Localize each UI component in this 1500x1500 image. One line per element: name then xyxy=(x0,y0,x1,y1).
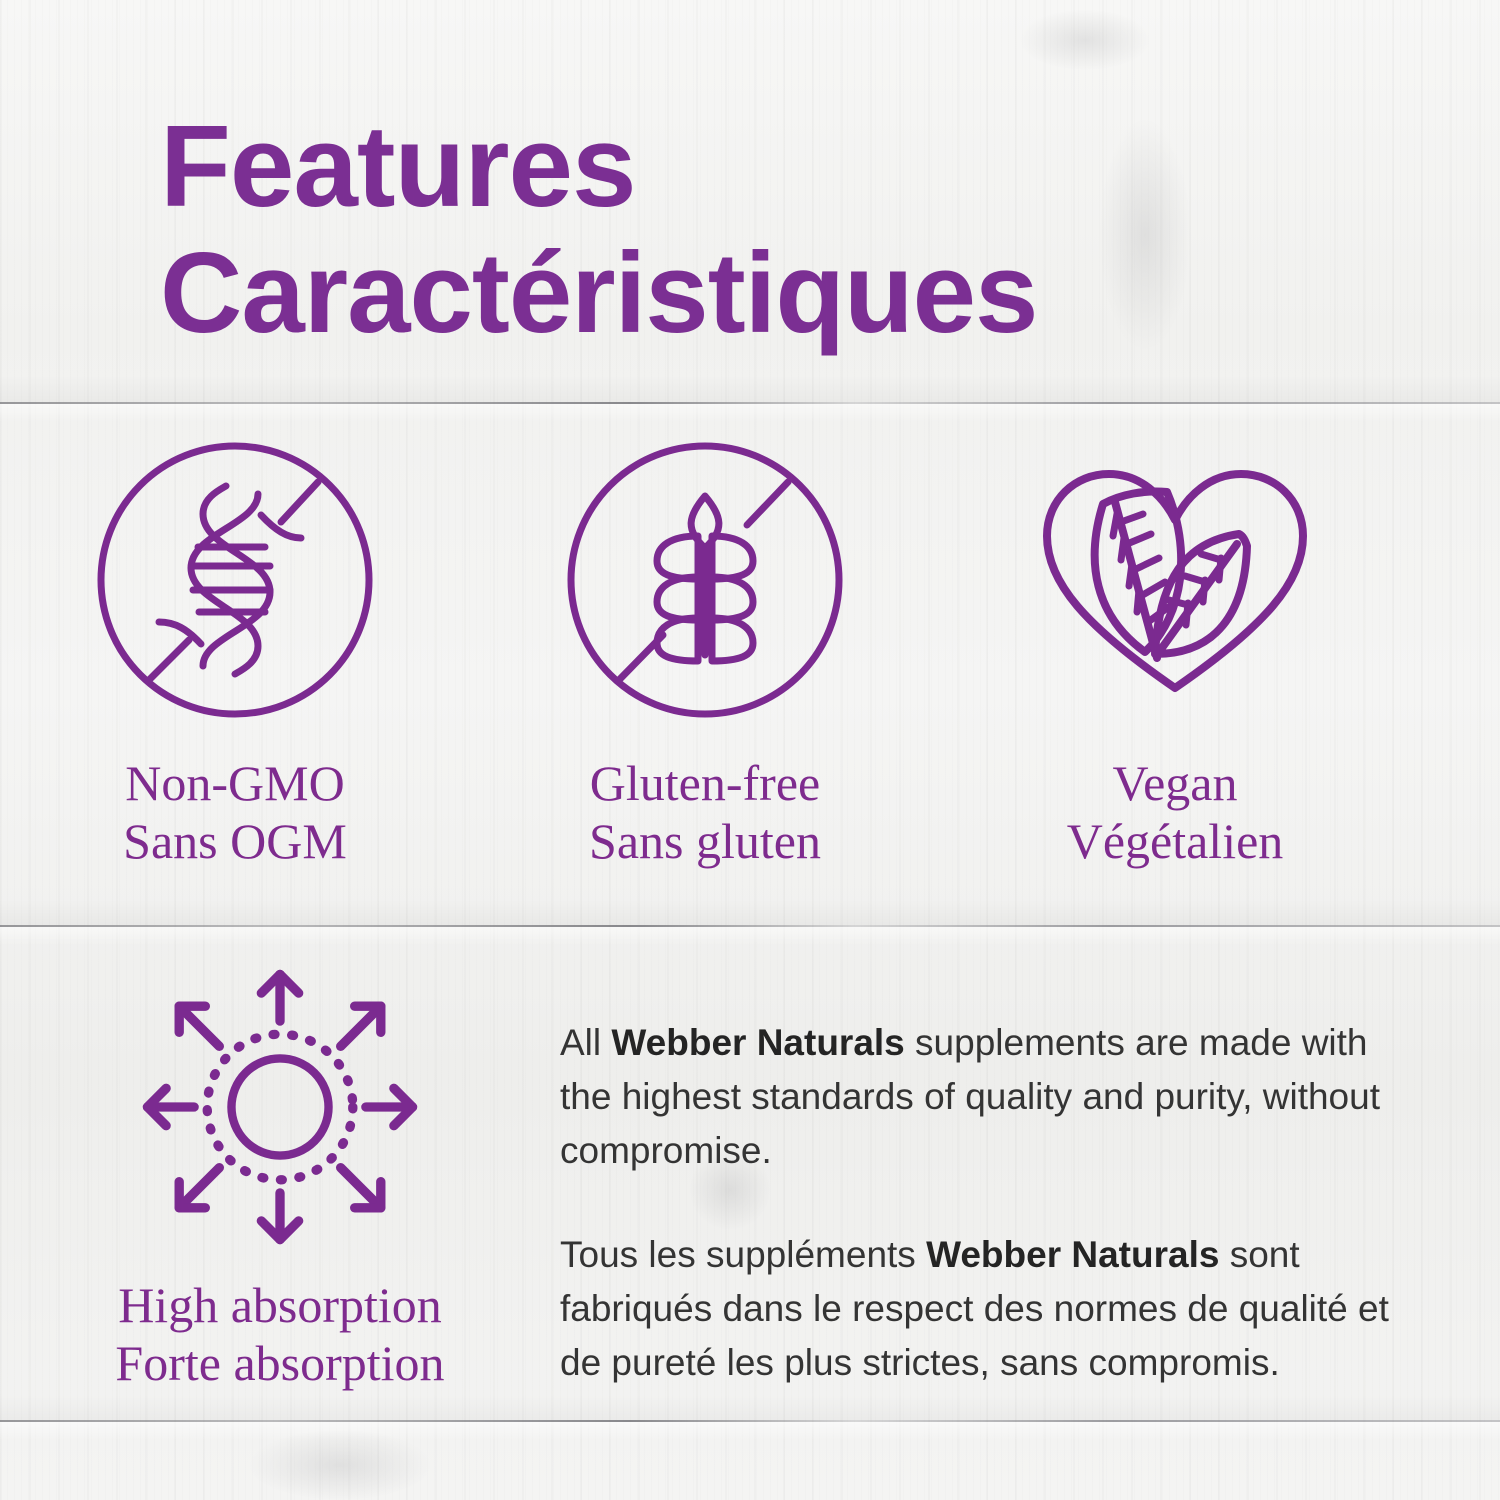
feature-non-gmo: Non-GMO Sans OGM xyxy=(0,430,470,870)
feature-label-vegan: Vegan Végétalien xyxy=(1067,754,1284,870)
no-gmo-dna-icon xyxy=(85,430,385,730)
feature-label-fr: Forte absorption xyxy=(115,1334,444,1392)
copy-en-before: All xyxy=(560,1022,611,1063)
brand-copy-block: All Webber Naturals supplements are made… xyxy=(560,960,1400,1392)
absorption-and-copy-row: High absorption Forte absorption All Web… xyxy=(0,960,1500,1392)
page-title: Features Caractéristiques xyxy=(160,102,1360,358)
feature-gluten-free: Gluten-free Sans gluten xyxy=(470,430,940,870)
brand-name-en: Webber Naturals xyxy=(611,1022,904,1063)
feature-high-absorption: High absorption Forte absorption xyxy=(0,960,560,1392)
feature-label-fr: Sans OGM xyxy=(123,812,347,870)
wood-knot xyxy=(1020,10,1150,70)
plank-seam-3 xyxy=(0,1419,1500,1423)
feature-label-gluten-free: Gluten-free Sans gluten xyxy=(589,754,821,870)
gluten-free-wheat-icon xyxy=(555,430,855,730)
plank-seam-1 xyxy=(0,401,1500,405)
page-title-fr: Caractéristiques xyxy=(160,230,1360,358)
brand-copy-fr: Tous les suppléments Webber Naturals son… xyxy=(560,1228,1400,1390)
feature-label-non-gmo: Non-GMO Sans OGM xyxy=(123,754,347,870)
feature-icon-row: Non-GMO Sans OGM xyxy=(0,430,1500,870)
plank-seam-2 xyxy=(0,924,1500,928)
feature-label-fr: Sans gluten xyxy=(589,812,821,870)
feature-label-en: Gluten-free xyxy=(589,754,821,812)
feature-label-en: Vegan xyxy=(1067,754,1284,812)
copy-fr-before: Tous les suppléments xyxy=(560,1234,926,1275)
vegan-heart-leaf-icon xyxy=(1025,430,1325,730)
brand-name-fr: Webber Naturals xyxy=(926,1234,1219,1275)
feature-label-en: Non-GMO xyxy=(123,754,347,812)
high-absorption-radiating-arrows-icon xyxy=(140,968,420,1246)
wood-knot xyxy=(250,1430,430,1500)
feature-label-fr: Végétalien xyxy=(1067,812,1284,870)
feature-panel: Features Caractéristiques xyxy=(0,0,1500,1500)
brand-copy-en: All Webber Naturals supplements are made… xyxy=(560,1016,1400,1178)
feature-vegan: Vegan Végétalien xyxy=(940,430,1410,870)
feature-label-high-absorption: High absorption Forte absorption xyxy=(115,1276,444,1392)
feature-label-en: High absorption xyxy=(115,1276,444,1334)
page-title-en: Features xyxy=(160,102,1360,230)
